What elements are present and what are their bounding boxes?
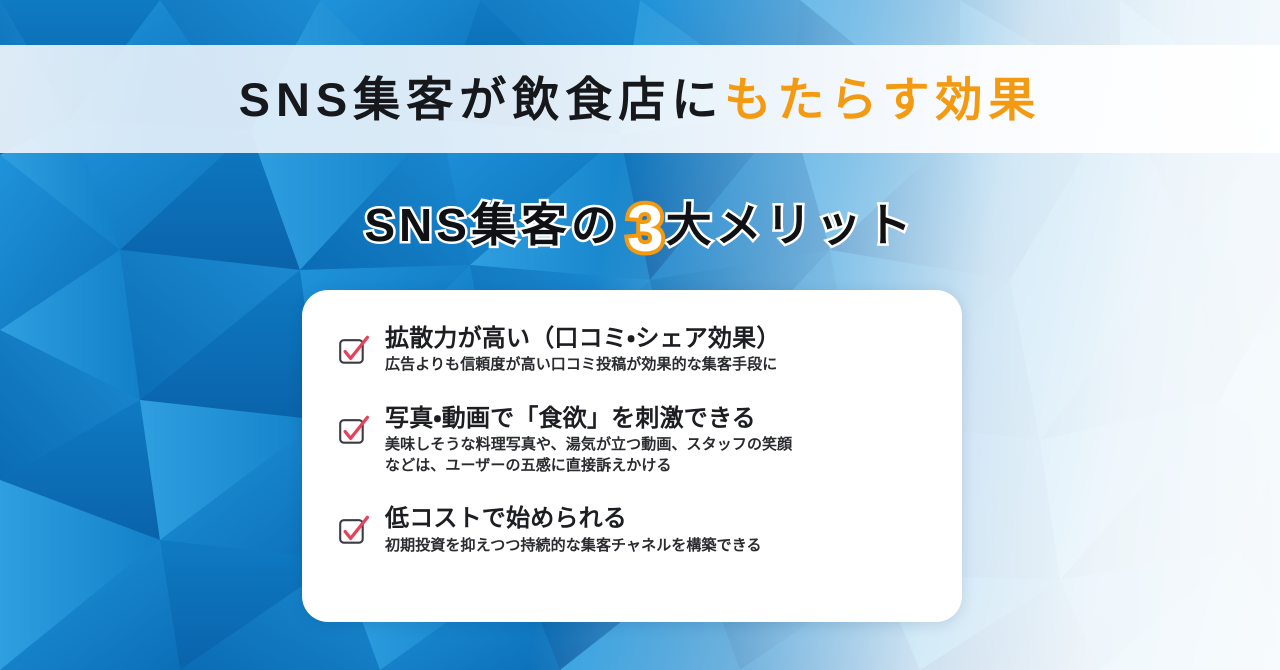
page-subtitle: SNS集客の3大メリット bbox=[0, 188, 1280, 262]
merit-description: 美味しそうな料理写真や、湯気が立つ動画、スタッフの笑顔などは、ユーザーの五感に直… bbox=[385, 434, 932, 477]
merit-body: 低コストで始められる 初期投資を抑えつつ持続的な集客チャネルを構築できる bbox=[385, 504, 932, 556]
subtitle-number: 3 bbox=[627, 195, 664, 261]
merits-card: 拡散力が高い（口コミ・シェア効果） 広告よりも信頼度が高い口コミ投稿が効果的な集… bbox=[302, 290, 962, 622]
subtitle-suffix: 大メリット bbox=[666, 202, 916, 248]
checkbox-checked-icon bbox=[337, 514, 371, 548]
page-title-primary: SNS集客が飲食店に bbox=[239, 76, 725, 123]
page-title-accent: もたらす効果 bbox=[724, 76, 1041, 123]
merit-description: 初期投資を抑えつつ持続的な集客チャネルを構築できる bbox=[385, 535, 932, 556]
merit-title: 写真・動画で「食欲」を刺激できる bbox=[385, 404, 932, 433]
page-title: SNS集客が飲食店にもたらす効果 bbox=[0, 45, 1280, 153]
merit-item: 低コストで始められる 初期投資を抑えつつ持続的な集客チャネルを構築できる bbox=[337, 504, 932, 556]
merit-title: 低コストで始められる bbox=[385, 504, 932, 533]
merit-item: 拡散力が高い（口コミ・シェア効果） 広告よりも信頼度が高い口コミ投稿が効果的な集… bbox=[337, 324, 932, 376]
merit-body: 拡散力が高い（口コミ・シェア効果） 広告よりも信頼度が高い口コミ投稿が効果的な集… bbox=[385, 324, 932, 376]
merit-item: 写真・動画で「食欲」を刺激できる 美味しそうな料理写真や、湯気が立つ動画、スタッ… bbox=[337, 404, 932, 477]
merit-title: 拡散力が高い（口コミ・シェア効果） bbox=[385, 324, 932, 353]
checkbox-checked-icon bbox=[337, 334, 371, 368]
subtitle-prefix: SNS集客の bbox=[364, 202, 621, 248]
banner-graphic: SNS集客が飲食店にもたらす効果 SNS集客の3大メリット 拡散力が高い（口コミ… bbox=[0, 0, 1280, 670]
merit-body: 写真・動画で「食欲」を刺激できる 美味しそうな料理写真や、湯気が立つ動画、スタッ… bbox=[385, 404, 932, 477]
checkbox-checked-icon bbox=[337, 414, 371, 448]
merits-list: 拡散力が高い（口コミ・シェア効果） 広告よりも信頼度が高い口コミ投稿が効果的な集… bbox=[337, 324, 932, 556]
merit-description: 広告よりも信頼度が高い口コミ投稿が効果的な集客手段に bbox=[385, 354, 932, 375]
